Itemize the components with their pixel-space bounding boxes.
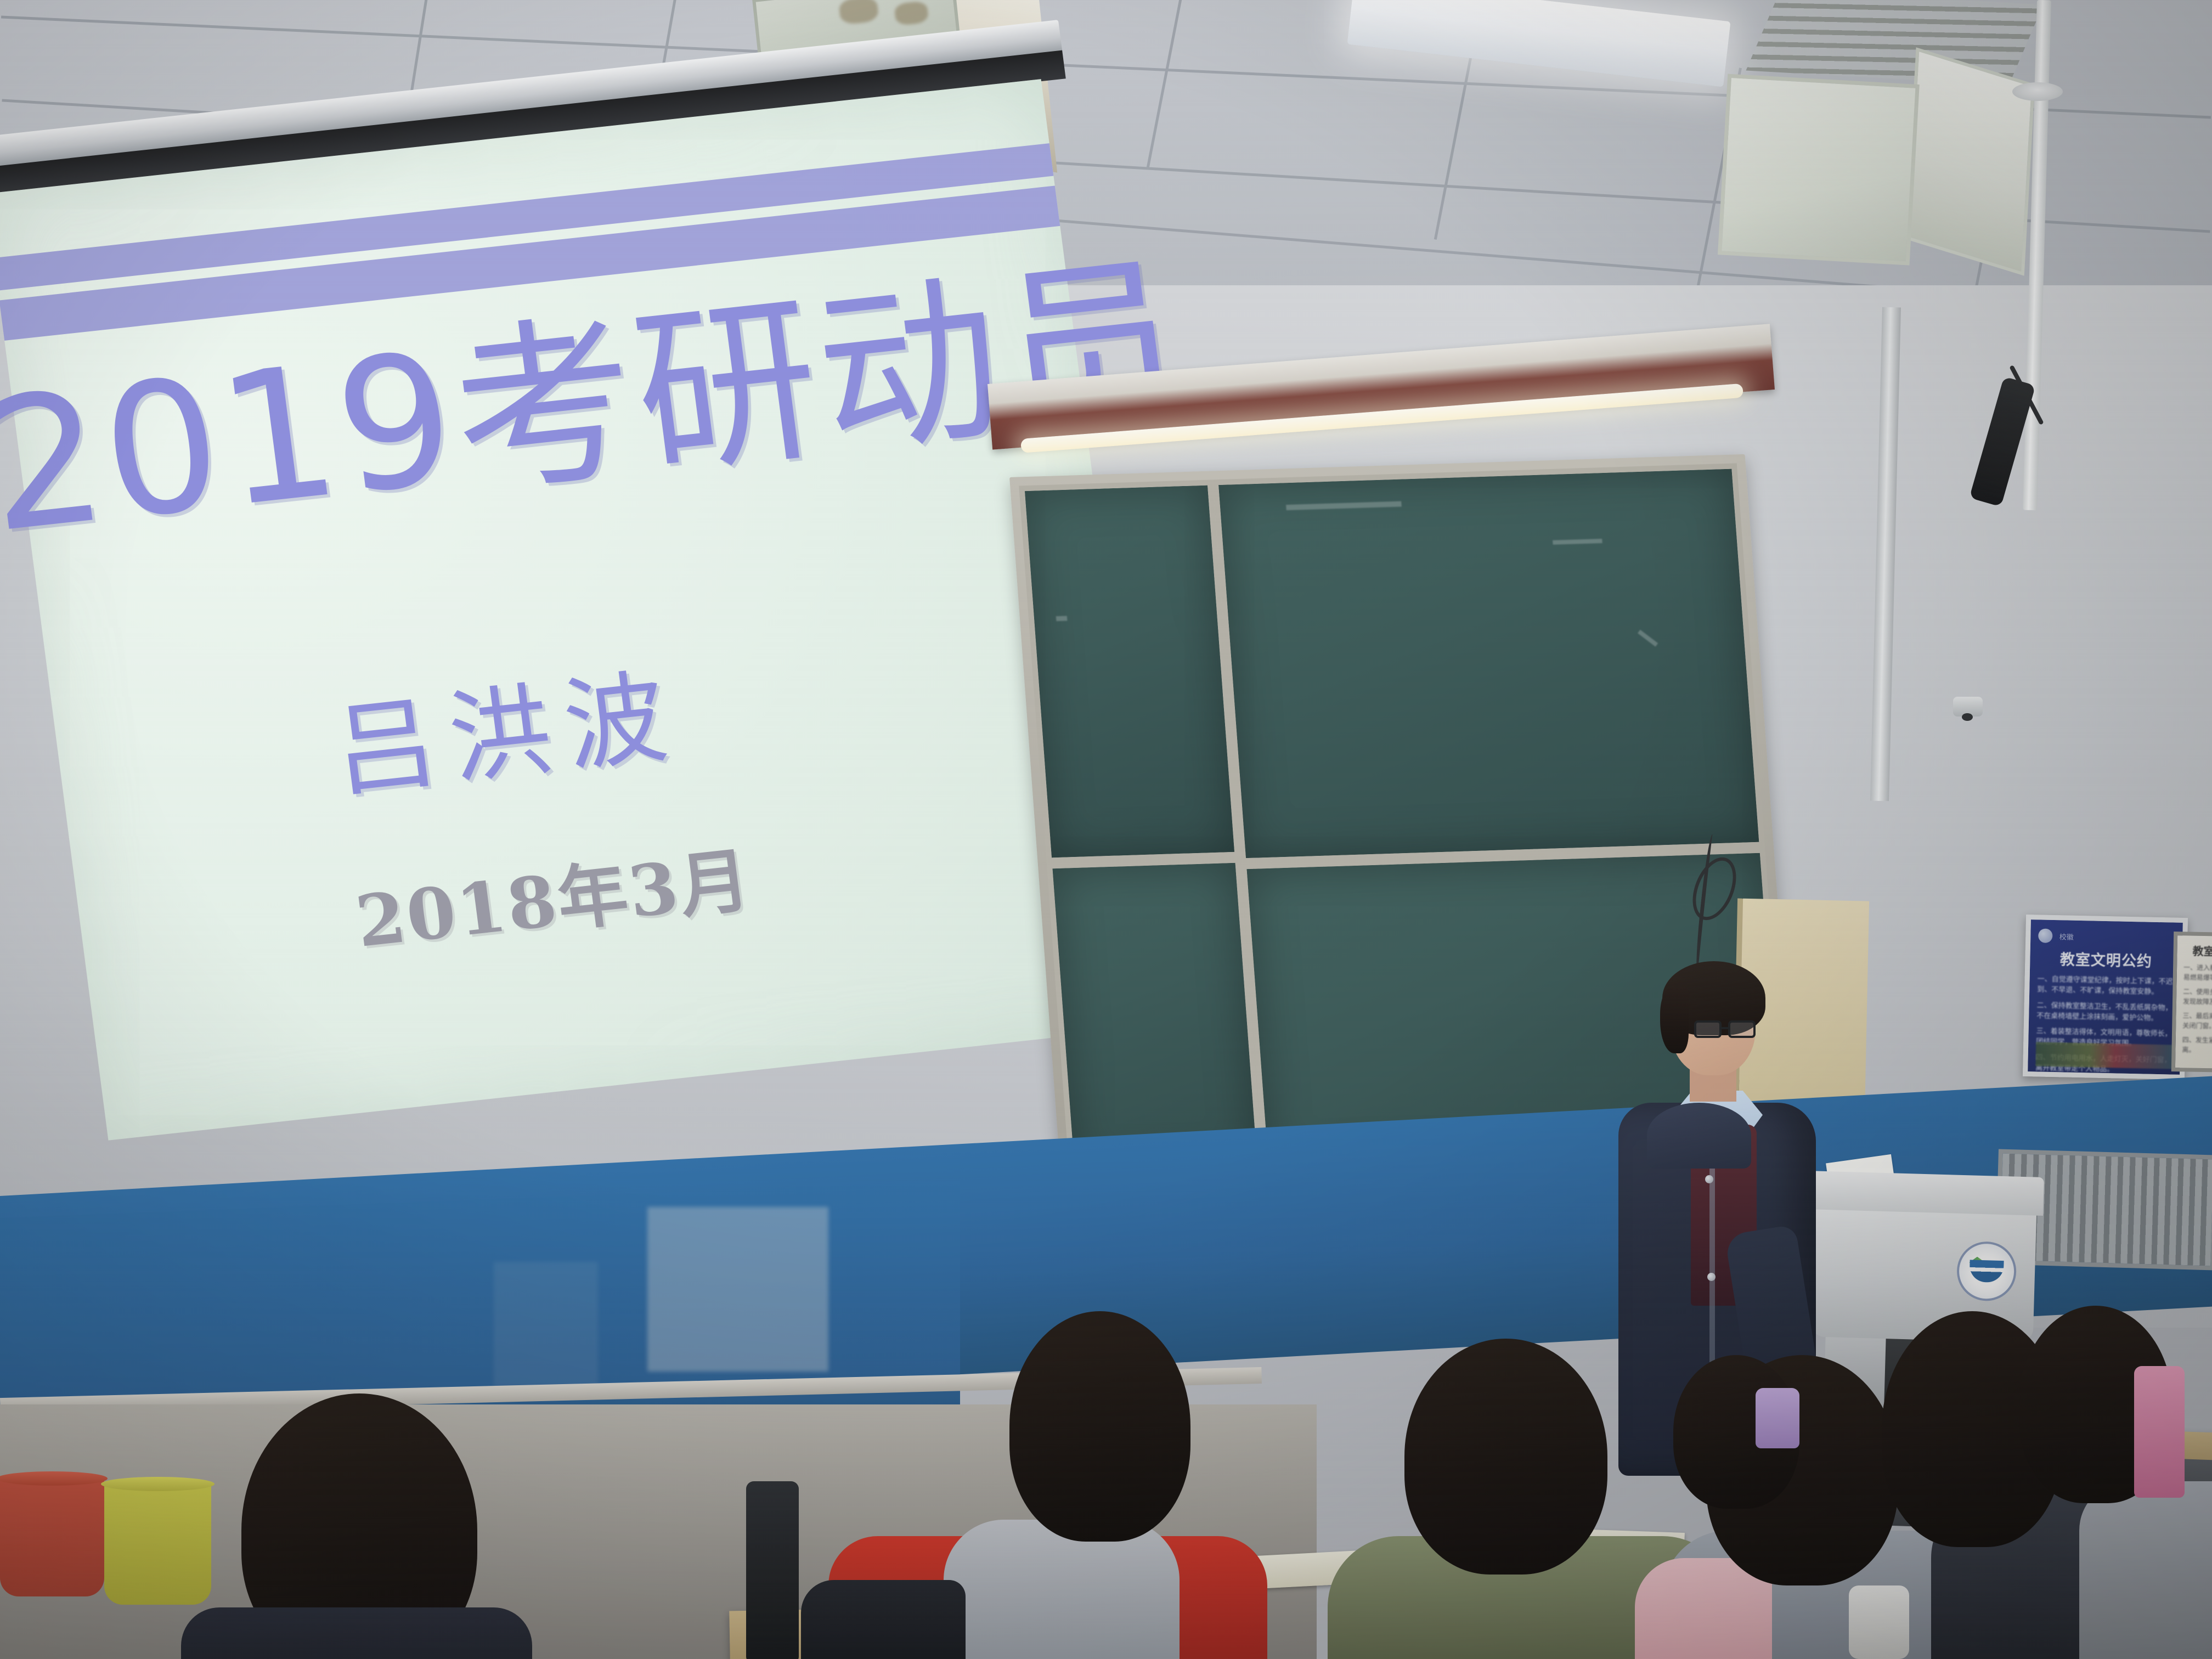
jacket-button — [1705, 1175, 1713, 1183]
thermos-pink — [2134, 1366, 2185, 1498]
notice-footer-image — [2035, 1042, 2172, 1069]
camera-lens-icon — [1962, 713, 1973, 721]
slide-presenter: 吕洪波 — [328, 625, 1051, 803]
thermos-white — [1849, 1585, 1909, 1659]
bucket-red — [0, 1476, 104, 1596]
notice-line-1: 一、自觉遵守课堂纪律，按时上下课，不迟到、不早退、不旷课，保持教室安静。 — [2037, 974, 2174, 997]
jacket-button — [1707, 1273, 1716, 1281]
notice-logo-label: 校徽 — [2059, 931, 2074, 942]
notice-board-safety[interactable]: 教室安全管理办法 一、进入教室应注意安全，不得携带易燃易爆等危险物品。 二、使用… — [2171, 932, 2212, 1074]
safety-line-3: 三、最后离开教室人员应切断电源，关闭门窗。 — [2182, 1011, 2212, 1032]
bucket-yellow — [104, 1481, 211, 1605]
chalkboard-panel[interactable] — [1212, 463, 1765, 864]
presenter-sideburn — [1660, 988, 1689, 1053]
safety-line-1: 一、进入教室应注意安全，不得携带易燃易爆等危险物品。 — [2183, 962, 2212, 984]
projector-lift-box — [1717, 52, 2035, 289]
pole-ceiling-flange — [2012, 82, 2063, 101]
slide-date: 2018年3月 — [352, 811, 1070, 957]
safety-notice-title: 教室安全管理办法 — [2183, 942, 2212, 960]
slide-surface: 2019考研动员 吕洪波 2018年3月 — [0, 79, 1164, 1141]
school-crest-icon — [2038, 928, 2053, 943]
safety-line-4: 四、发生紧急情况按疏散指示有序撤离。 — [2182, 1035, 2212, 1056]
safety-line-2: 二、使用多媒体设备应按规程操作，发现故障及时报修。 — [2183, 986, 2212, 1008]
chalkboard-panel[interactable] — [1019, 479, 1240, 863]
notice-title: 教室文明公约 — [2038, 947, 2175, 971]
notice-board-civility[interactable]: 校徽 教室文明公约 一、自觉遵守课堂纪律，按时上下课，不迟到、不早退、不旷课，保… — [2023, 915, 2188, 1080]
notice-line-2: 二、保持教室整洁卫生，不乱丢纸屑杂物，不在桌椅墙壁上涂抹刻画，爱护公物。 — [2036, 1000, 2174, 1024]
projection-screen: 2019考研动员 吕洪波 2018年3月 — [0, 21, 1178, 1187]
classroom-photo: 2019考研动员 吕洪波 2018年3月 — [0, 0, 2212, 1659]
presenter-hood — [1647, 1103, 1751, 1169]
thermos-purple — [1756, 1388, 1799, 1448]
eyeglasses-icon — [1694, 1020, 1760, 1039]
thermos-black — [746, 1481, 799, 1659]
